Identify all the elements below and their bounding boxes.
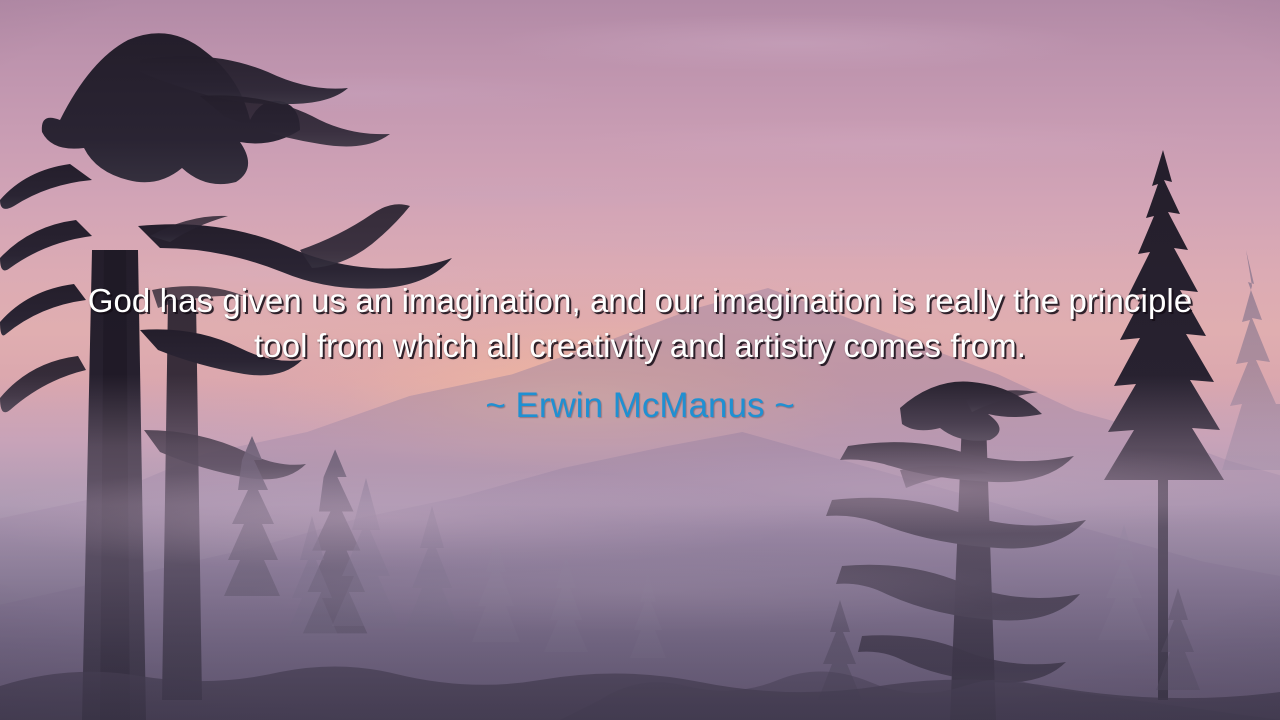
quote-text: God has given us an imagination, and our… [75,278,1205,368]
quote-image-canvas: God has given us an imagination, and our… [0,0,1280,720]
quote-overlay: God has given us an imagination, and our… [0,278,1280,428]
quote-author: ~ Erwin McManus ~ [38,384,1242,428]
